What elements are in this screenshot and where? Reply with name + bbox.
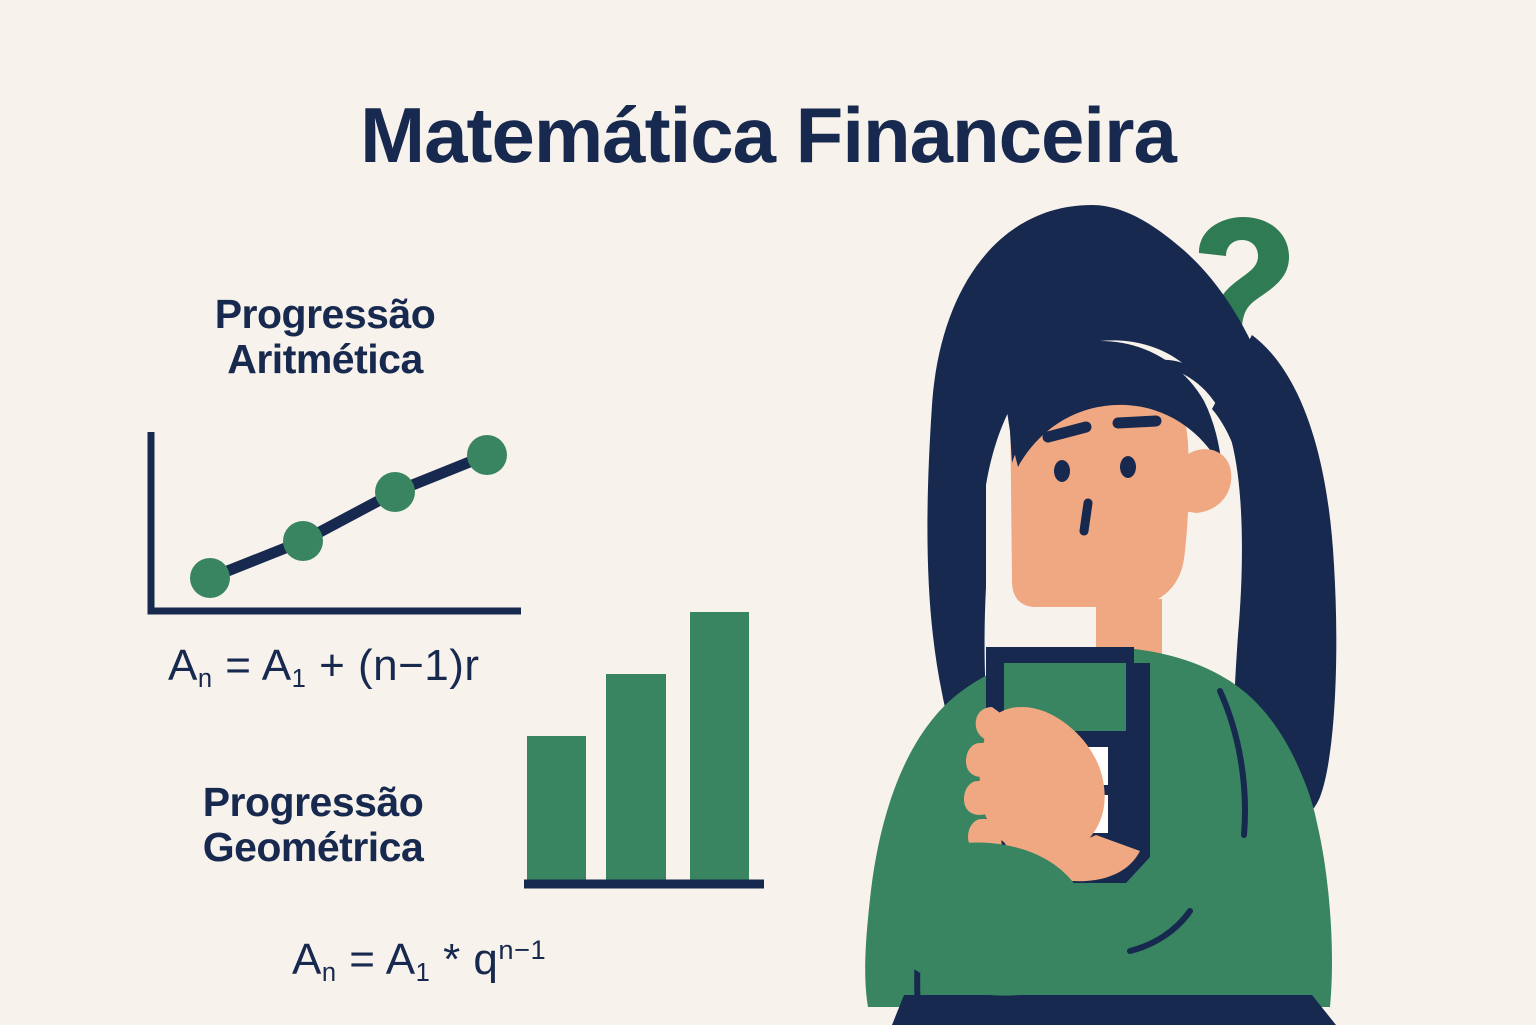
arithmetic-heading-line1: Progressão [215,291,436,337]
finger [966,743,998,777]
line-chart-point [375,472,415,512]
formula-power-base: q [473,935,498,984]
geometric-heading-line1: Progressão [203,779,424,825]
geometric-progression-formula: An = A1 * qn−1 [292,938,546,982]
geometric-heading-line2: Geométrica [118,825,508,870]
line-chart-point [283,521,323,561]
formula-rhs-subscript: 1 [416,959,431,987]
ear [1182,449,1231,513]
bar [690,612,749,884]
line-chart-point [467,435,507,475]
formula-power-exponent: n−1 [498,934,546,965]
skirt [892,995,1336,1025]
poster-canvas: Matemática Financeira Progressão Aritmét… [0,0,1536,1024]
finger [964,781,998,815]
formula-lhs-base: A [168,641,198,690]
bar [606,674,666,884]
formula-rhs-base: A [262,641,292,690]
formula-rhs-base: A [386,935,416,984]
person-illustration [800,195,1440,1025]
eye-right [1120,456,1136,478]
eye-left [1054,460,1070,482]
eyebrow-right [1118,421,1156,423]
formula-lhs-subscript: n [322,959,337,987]
mouth [1084,503,1088,531]
line-chart-point [190,558,230,598]
arithmetic-heading-line2: Aritmética [130,337,520,382]
formula-tail: + (n−1)r [306,641,479,690]
arithmetic-progression-formula: An = A1 + (n−1)r [168,644,480,688]
arithmetic-progression-line-chart [130,410,530,625]
formula-operator: * [430,935,473,984]
page-title: Matemática Financeira [0,96,1536,174]
formula-equals: = [337,935,386,984]
bar [527,736,586,884]
formula-lhs-subscript: n [198,665,213,693]
formula-equals: = [213,641,262,690]
formula-rhs-subscript: 1 [292,665,307,693]
geometric-progression-bar-chart [505,595,795,895]
line-chart-series-line [210,455,487,578]
arithmetic-progression-heading: Progressão Aritmética [130,292,520,382]
formula-lhs-base: A [292,935,322,984]
geometric-progression-heading: Progressão Geométrica [118,780,508,870]
